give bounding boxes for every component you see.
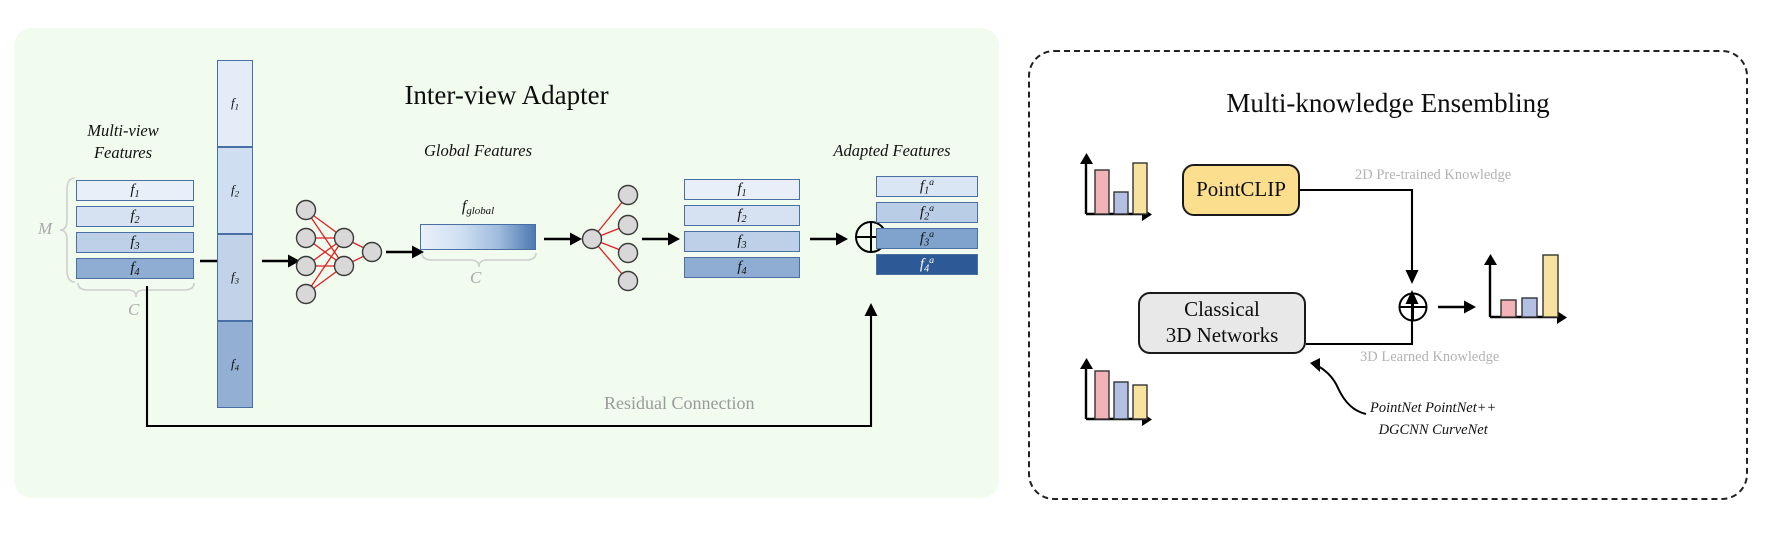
concat-feature-segment-1: f1 [217, 60, 253, 147]
ensemble-output-arrow [1438, 299, 1476, 315]
multiview-label-line2: Features [48, 142, 198, 164]
knowledge-3d-label: 3D Learned Knowledge [1360, 349, 1499, 366]
f-global-symbol: fglobal [428, 198, 528, 217]
global-feature-bar [420, 224, 536, 250]
page-title: Inter-view Adapter [14, 80, 999, 111]
residual-connection-path [134, 286, 878, 436]
flow-arrow-5 [642, 231, 680, 247]
pointclip-label: PointCLIP [1196, 177, 1286, 203]
knowledge-2d-label: 2D Pre-trained Knowledge [1355, 167, 1511, 184]
mid-feature-box-1: f1 [684, 179, 800, 200]
connector-2d-knowledge [1300, 188, 1420, 292]
mid-feature-box-2: f2 [684, 205, 800, 226]
dim-c-global-label: C [470, 268, 481, 288]
network-names-pointer-arrow [1292, 352, 1372, 422]
bar-chart-icon-ensembled-output [1482, 247, 1568, 325]
bar-chart-icon-classical-3d-input [1078, 357, 1152, 423]
network-names-line2: DGCNN CurveNet [1370, 419, 1496, 441]
residual-connection-label: Residual Connection [604, 393, 754, 414]
mid-feature-box-4: f4 [684, 257, 800, 278]
classical-3d-networks-box[interactable]: Classical 3D Networks [1138, 292, 1306, 354]
input-feature-box-4: f4 [76, 258, 194, 279]
adapted-features-label: Adapted Features [792, 140, 992, 162]
input-feature-box-1: f1 [76, 180, 194, 201]
bar-chart-icon-pointclip-input [1078, 152, 1152, 218]
pointclip-box[interactable]: PointCLIP [1182, 164, 1300, 216]
right-panel-title: Multi-knowledge Ensembling [1030, 88, 1746, 119]
adapted-feature-box-2: f2a [876, 202, 978, 223]
flow-arrow-6 [810, 231, 848, 247]
inter-view-adapter-panel: Inter-view Adapter Multi-view Features f… [14, 28, 999, 498]
diagram-canvas: Inter-view Adapter Multi-view Features f… [0, 0, 1766, 550]
mlp-decoder-graph [580, 183, 650, 293]
f-global-subscript: global [466, 205, 494, 217]
flow-arrow-3 [386, 244, 424, 260]
input-feature-box-2: f2 [76, 206, 194, 227]
adapted-feature-box-4: f4a [876, 254, 978, 275]
classical-3d-line2: 3D Networks [1166, 323, 1279, 349]
mid-feature-box-3: f3 [684, 231, 800, 252]
flow-arrow-4 [544, 231, 582, 247]
multi-knowledge-ensembling-panel: Multi-knowledge Ensembling PointCLIP 2D … [1028, 50, 1748, 500]
connector-3d-knowledge [1306, 284, 1426, 356]
input-feature-box-3: f3 [76, 232, 194, 253]
dim-m-label: M [38, 219, 52, 239]
multiview-features-label: Multi-view Features [48, 120, 198, 164]
adapted-feature-box-1: f1a [876, 176, 978, 197]
adapted-feature-box-3: f3a [876, 228, 978, 249]
global-features-label: Global Features [398, 140, 558, 162]
network-names-list: PointNet PointNet++ DGCNN CurveNet [1370, 397, 1496, 442]
classical-3d-line1: Classical [1184, 297, 1260, 323]
concat-feature-segment-2: f2 [217, 147, 253, 234]
multiview-label-line1: Multi-view [48, 120, 198, 142]
network-names-line1: PointNet PointNet++ [1370, 397, 1496, 419]
brace-m [58, 176, 78, 284]
